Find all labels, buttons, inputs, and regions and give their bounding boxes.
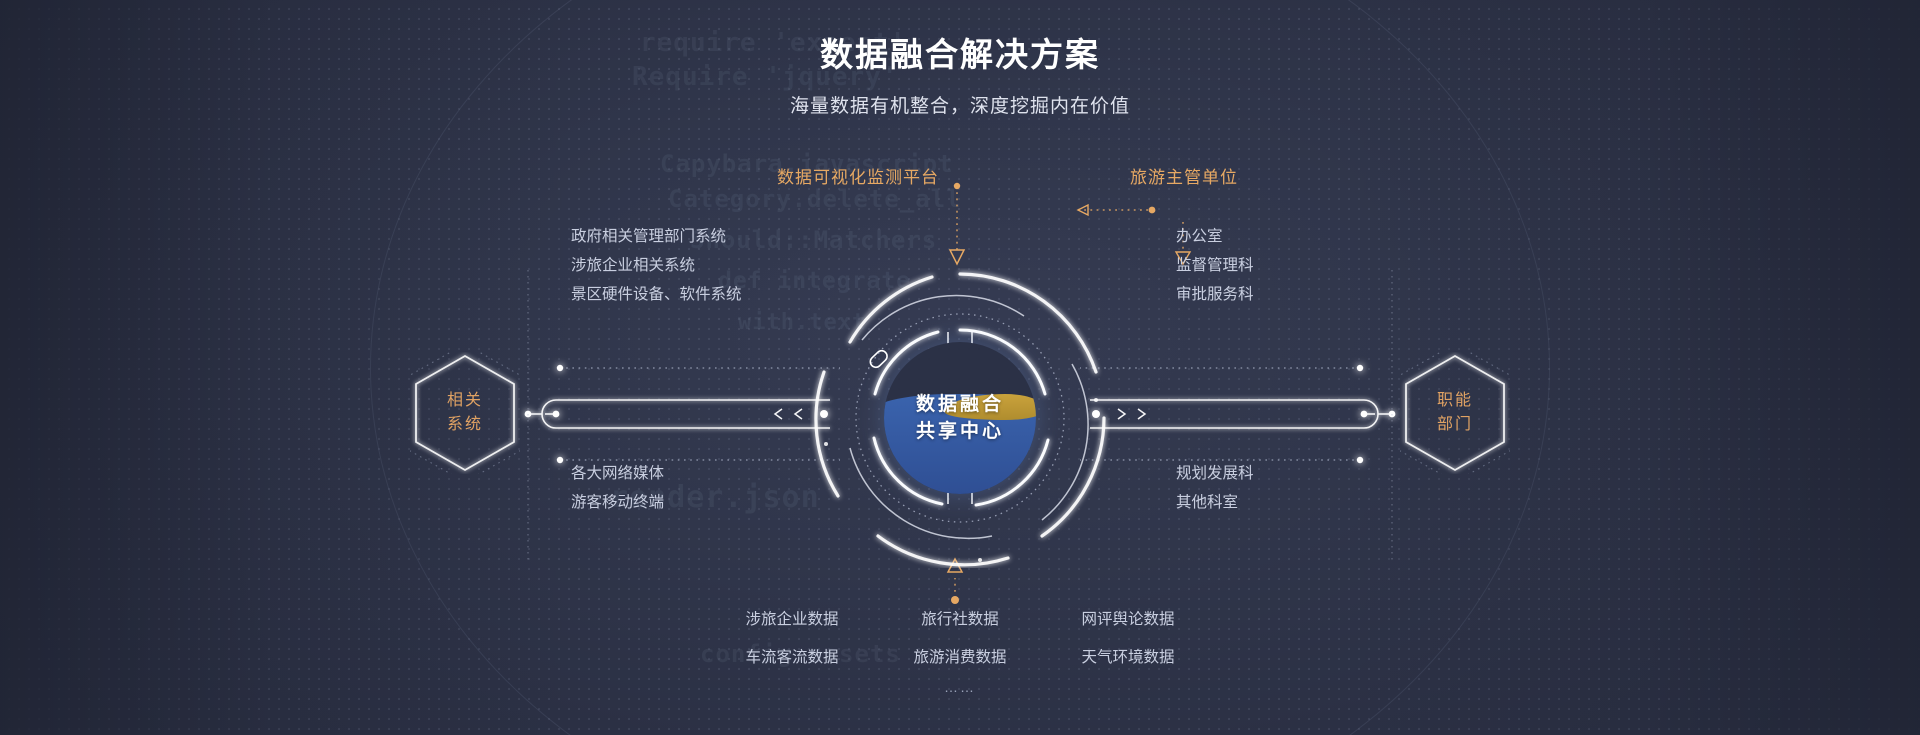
- list-item: 办公室: [1176, 222, 1254, 251]
- bottom-data-grid: 涉旅企业数据 旅行社数据 网评舆论数据 车流客流数据 旅游消费数据 天气环境数据: [730, 605, 1190, 673]
- list-item: 其他科室: [1176, 488, 1254, 517]
- page-title: 数据融合解决方案: [0, 34, 1920, 77]
- list-item: 政府相关管理部门系统: [571, 222, 742, 251]
- data-label: 天气环境数据: [1066, 643, 1190, 673]
- hexagon-left-label: 相关 系统: [410, 352, 520, 474]
- hexagon-right-line2: 部门: [1437, 413, 1473, 437]
- label-tourism-authority[interactable]: 旅游主管单位: [1130, 163, 1238, 188]
- bottom-data-sources: 涉旅企业数据 旅行社数据 网评舆论数据 车流客流数据 旅游消费数据 天气环境数据…: [730, 605, 1190, 695]
- bottom-ellipsis: ……: [730, 679, 1190, 695]
- data-label: 网评舆论数据: [1066, 605, 1190, 635]
- list-item: 监督管理科: [1176, 251, 1254, 280]
- hexagon-left-line2: 系统: [447, 413, 483, 437]
- hexagon-right-label: 职能 部门: [1400, 352, 1510, 474]
- hub-label-line1: 数据融合: [916, 391, 1004, 418]
- list-item: 景区硬件设备、软件系统: [571, 280, 742, 309]
- header: 数据融合解决方案 海量数据有机整合，深度挖掘内在价值: [0, 34, 1920, 118]
- data-label: 涉旅企业数据: [730, 605, 854, 635]
- right-upper-department-list: 办公室 监督管理科 审批服务科: [1176, 222, 1254, 309]
- hexagon-related-systems[interactable]: 相关 系统: [410, 352, 520, 474]
- left-upper-source-list: 政府相关管理部门系统 涉旅企业相关系统 景区硬件设备、软件系统: [571, 222, 742, 309]
- hub-label: 数据融合 共享中心: [810, 268, 1110, 568]
- hub-label-line2: 共享中心: [916, 418, 1004, 445]
- data-label: 车流客流数据: [730, 643, 854, 673]
- left-lower-source-list: 各大网络媒体 游客移动终端: [571, 459, 664, 517]
- data-label: 旅行社数据: [898, 605, 1022, 635]
- label-visualization-platform[interactable]: 数据可视化监测平台: [777, 163, 939, 188]
- data-fusion-hub[interactable]: 数据融合 共享中心: [810, 268, 1110, 568]
- hexagon-functional-departments[interactable]: 职能 部门: [1400, 352, 1510, 474]
- hexagon-right-line1: 职能: [1437, 389, 1473, 413]
- list-item: 游客移动终端: [571, 488, 664, 517]
- data-label: 旅游消费数据: [898, 643, 1022, 673]
- list-item: 规划发展科: [1176, 459, 1254, 488]
- list-item: 审批服务科: [1176, 280, 1254, 309]
- right-lower-department-list: 规划发展科 其他科室: [1176, 459, 1254, 517]
- hexagon-left-line1: 相关: [447, 389, 483, 413]
- page-subtitle: 海量数据有机整合，深度挖掘内在价值: [0, 91, 1920, 118]
- list-item: 涉旅企业相关系统: [571, 251, 742, 280]
- list-item: 各大网络媒体: [571, 459, 664, 488]
